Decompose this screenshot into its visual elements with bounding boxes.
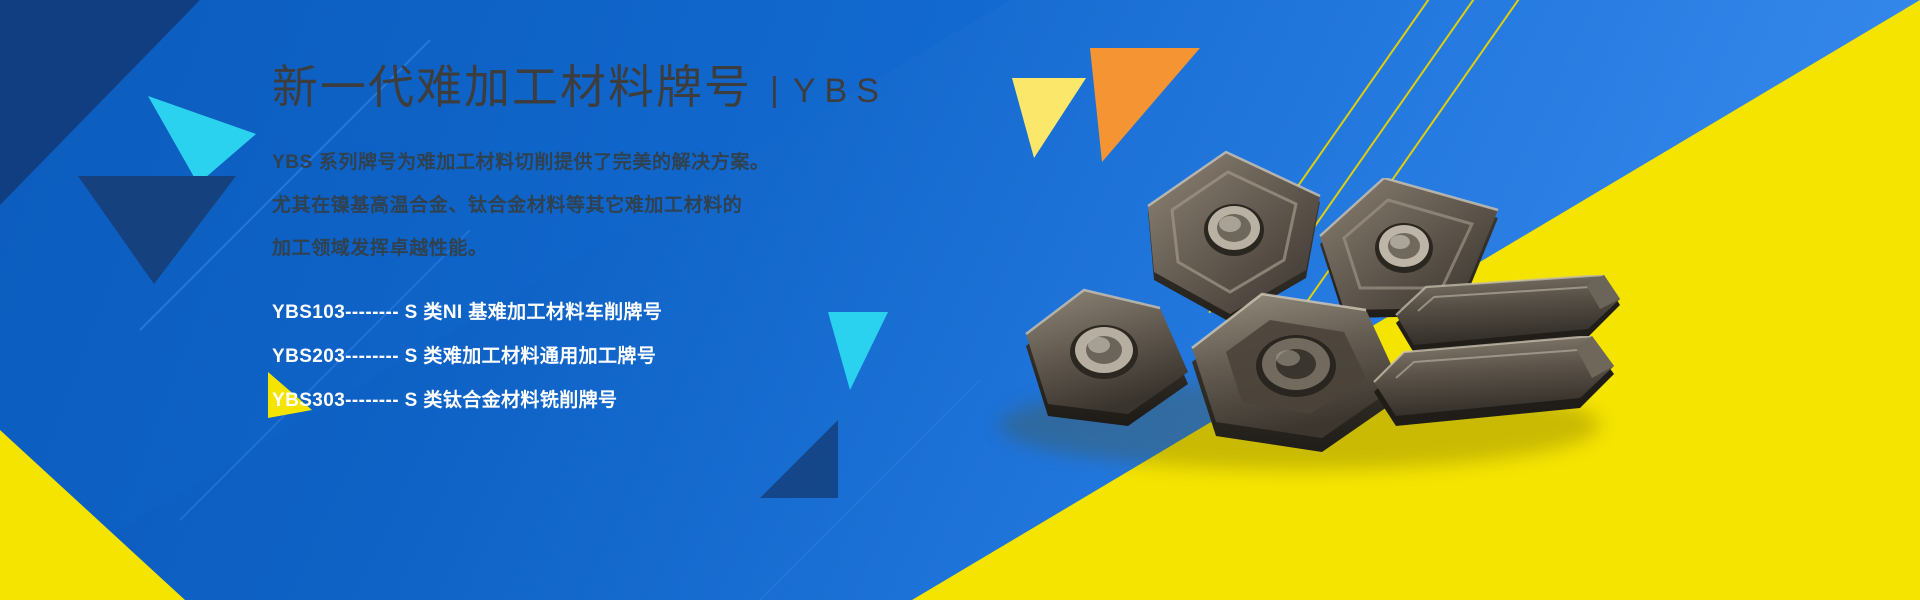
grade-list: YBS103-------- S 类NI 基难加工材料车削牌号 YBS203--… [272, 302, 1032, 412]
navy-triangle-icon [78, 176, 238, 286]
hero-banner: 新一代难加工材料牌号 | YBS YBS 系列牌号为难加工材料切削提供了完美的解… [0, 0, 1920, 600]
yellow-triangle-bottom-left-icon [0, 300, 190, 600]
banner-content: 新一代难加工材料牌号 | YBS YBS 系列牌号为难加工材料切削提供了完美的解… [272, 64, 1032, 434]
grade-item-ybs303: YBS303-------- S 类钛合金材料铣削牌号 [272, 390, 1032, 413]
page-title: 新一代难加工材料牌号 | YBS [272, 64, 1032, 110]
description-line-3: 加工领域发挥卓越性能。 [272, 234, 1032, 265]
grade-item-ybs103: YBS103-------- S 类NI 基难加工材料车削牌号 [272, 302, 1032, 325]
grooving-insert-left [1370, 336, 1620, 466]
product-image-group [990, 150, 1610, 490]
description-line-2: 尤其在镍基高温合金、钛合金材料等其它难加工材料的 [272, 191, 1032, 222]
headline-separator: | [770, 73, 779, 107]
cyan-triangle-icon [148, 96, 258, 186]
grade-item-ybs203: YBS203-------- S 类难加工材料通用加工牌号 [272, 346, 1032, 369]
headline-chinese: 新一代难加工材料牌号 [272, 64, 752, 110]
description-line-1: YBS 系列牌号为难加工材料切削提供了完美的解决方案。 [272, 148, 1032, 179]
orange-triangle-icon [1090, 48, 1202, 164]
headline-series-code: YBS [793, 74, 888, 108]
description-block: YBS 系列牌号为难加工材料切削提供了完美的解决方案。 尤其在镍基高温合金、钛合… [272, 148, 1032, 264]
